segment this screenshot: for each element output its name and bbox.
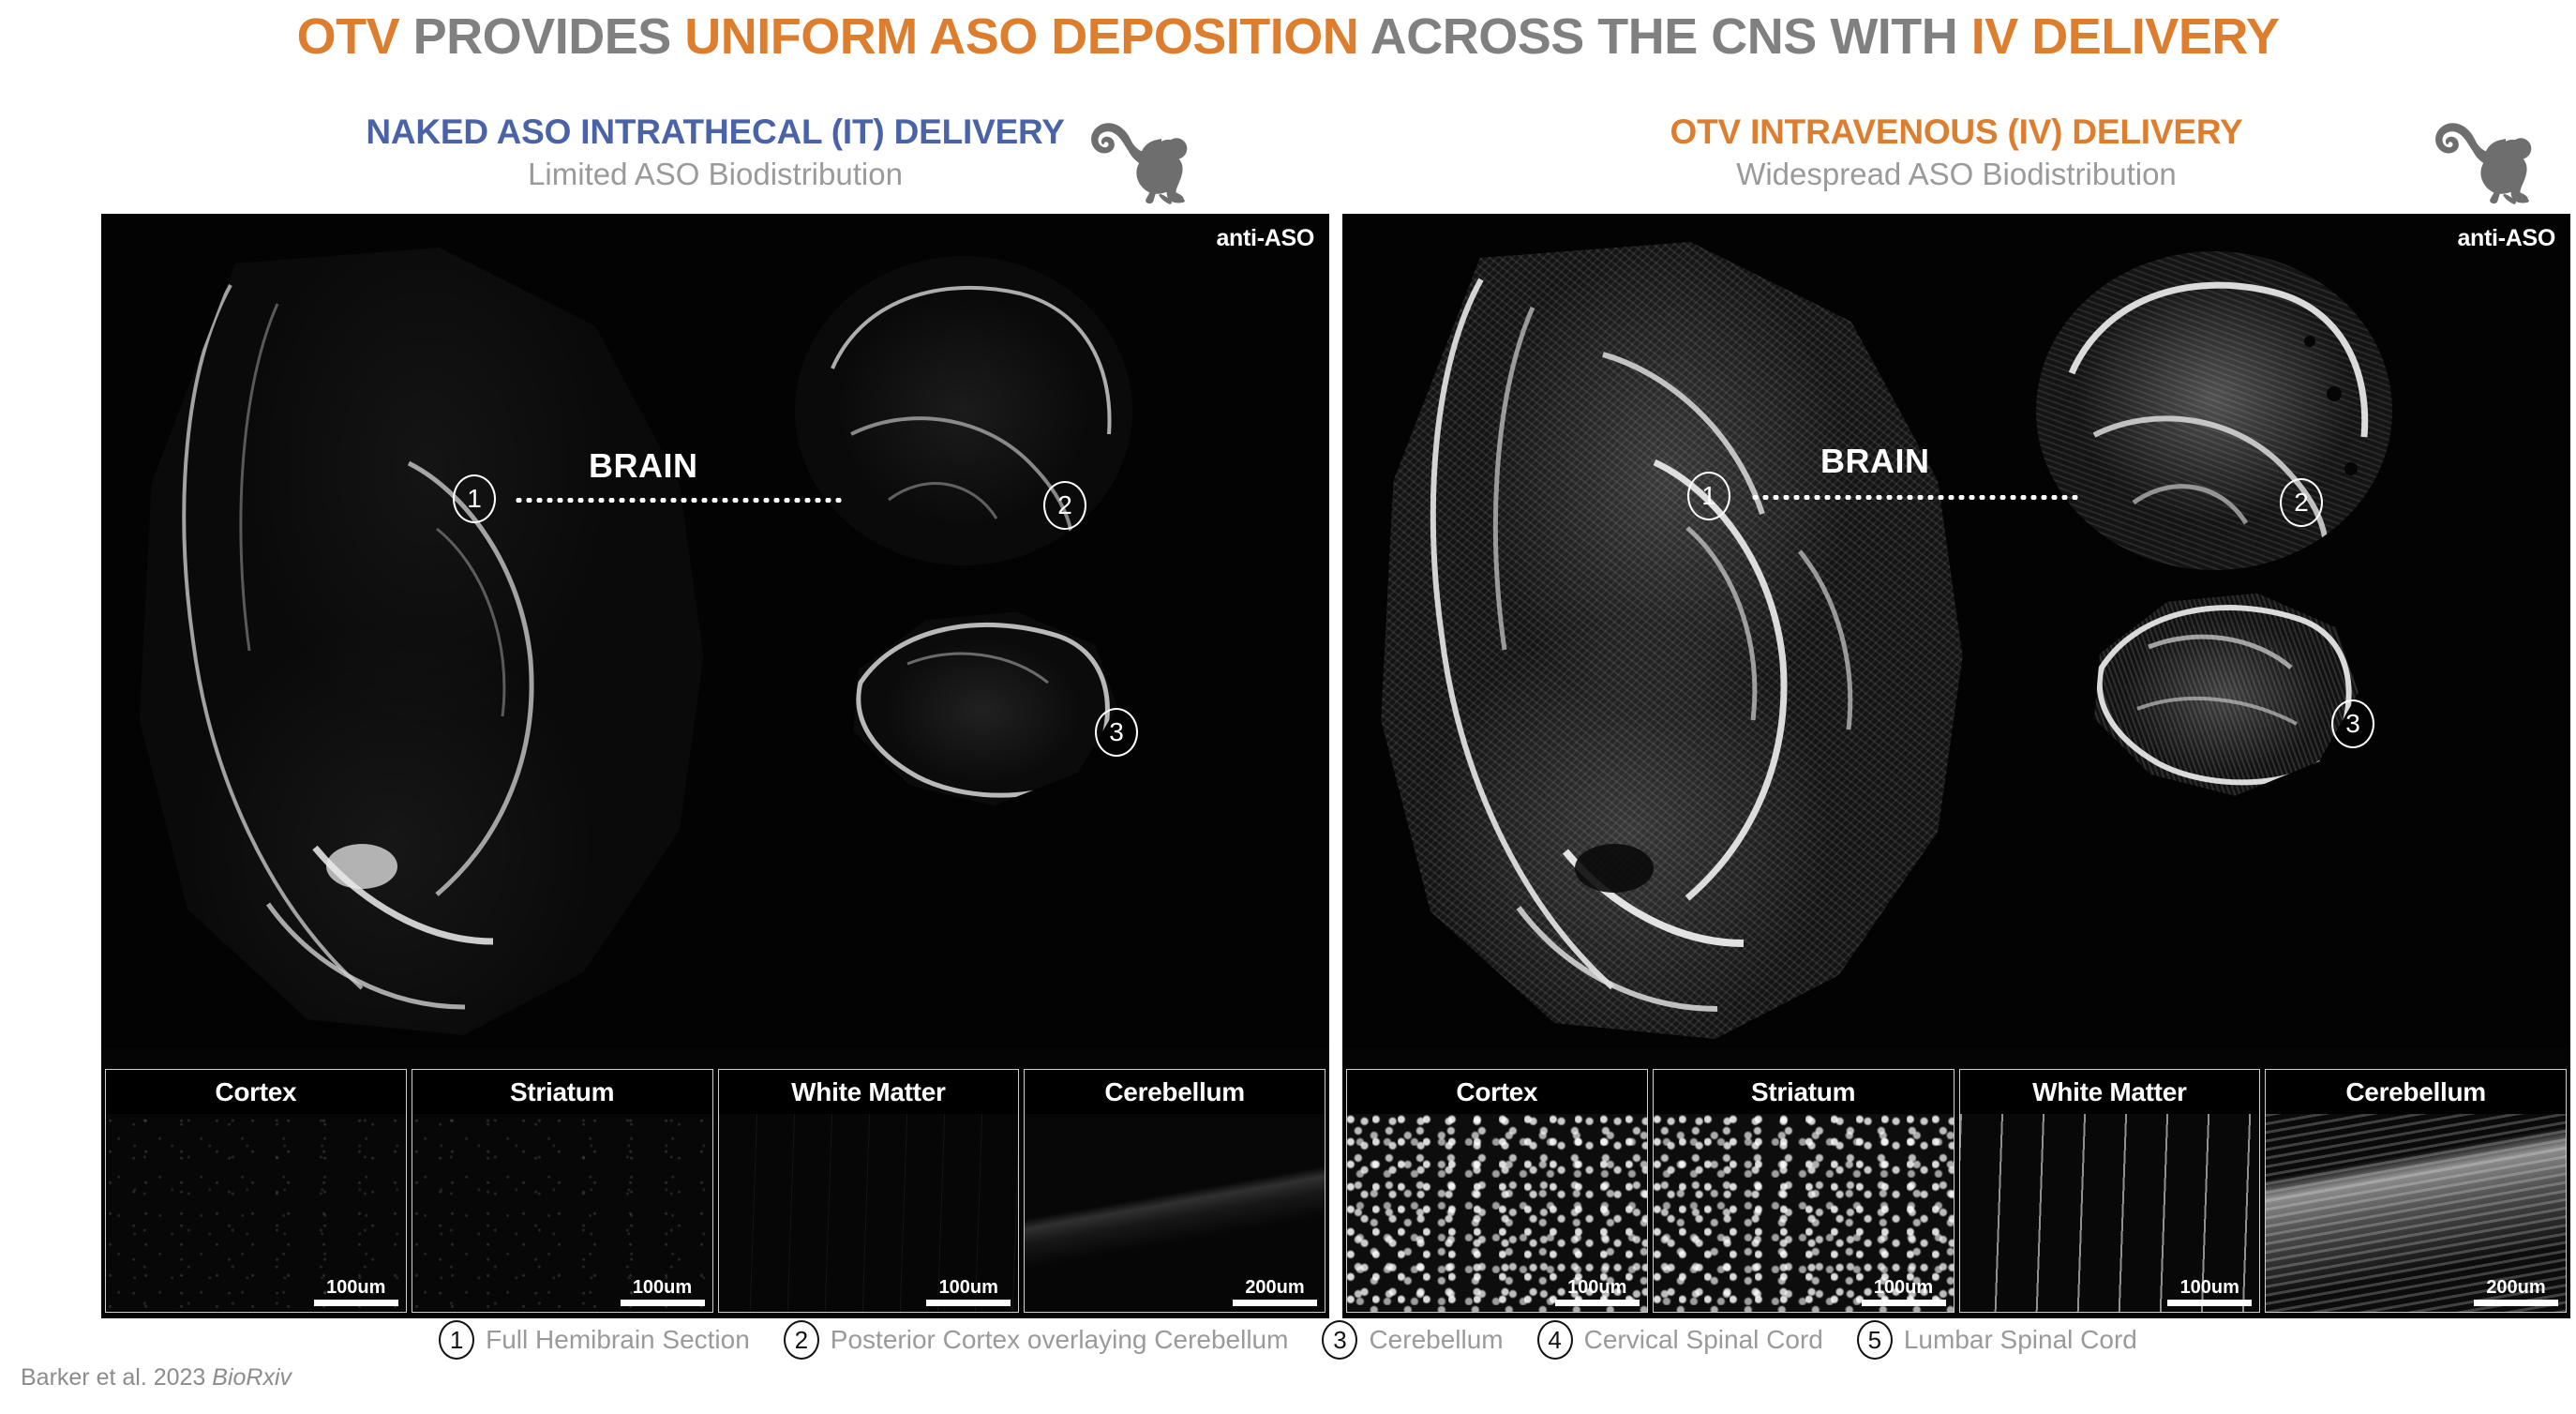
callout-1-left: 1 (453, 474, 496, 523)
legend-label-3: Cerebellum (1369, 1325, 1503, 1355)
monkey-icon (1081, 113, 1203, 204)
citation-source: BioRxiv (212, 1364, 292, 1391)
inset-title-white-matter-left: White Matter (718, 1069, 1020, 1114)
inset-scalebar-label: 200um (2474, 1277, 2558, 1298)
title-segment-1: OTV (297, 8, 413, 65)
brain-leader-line-left (514, 498, 842, 503)
hemibrain-section-right (1369, 242, 1987, 1039)
inset-strip-left: Cortex 100um Striatum 100um (101, 1069, 1329, 1318)
panel-header-left: NAKED ASO INTRATHECAL (IT) DELIVERY Limi… (101, 111, 1329, 214)
legend-item-4: 4 Cervical Spinal Cord (1537, 1320, 1823, 1360)
callout-3-right: 3 (2331, 699, 2374, 748)
legend-number-2: 2 (784, 1320, 819, 1360)
callout-2-left: 2 (1043, 481, 1086, 530)
legend-number-4: 4 (1537, 1320, 1573, 1360)
inset-scalebar-bar (621, 1300, 705, 1306)
panel-naked-aso-it: NAKED ASO INTRATHECAL (IT) DELIVERY Limi… (101, 111, 1329, 1318)
inset-scalebar-label: 100um (2167, 1277, 2252, 1298)
callout-3-left: 3 (1095, 708, 1138, 757)
panel-header-right: OTV INTRAVENOUS (IV) DELIVERY Widespread… (1342, 111, 2570, 214)
inset-scalebar-label: 100um (621, 1277, 705, 1298)
inset-scalebar-bar (1233, 1300, 1317, 1306)
inset-title-striatum-left: Striatum (412, 1069, 713, 1114)
brain-region-label-left: BRAIN (589, 446, 698, 486)
inset-image-striatum-right: 100um (1653, 1114, 1954, 1313)
inset-title-cortex-right: Cortex (1346, 1069, 1648, 1114)
monkey-icon (2425, 113, 2547, 204)
inset-title-striatum-right: Striatum (1653, 1069, 1954, 1114)
slide-root: OTV PROVIDES UNIFORM ASO DEPOSITION ACRO… (0, 0, 2576, 1414)
inset-white-matter-left: White Matter 100um (718, 1069, 1020, 1313)
inset-scalebar-bar (1862, 1300, 1946, 1306)
inset-cortex-right: Cortex 100um (1346, 1069, 1648, 1313)
title-segment-3: UNIFORM ASO DEPOSITION (684, 8, 1370, 65)
title-segment-4: ACROSS THE CNS WITH (1370, 8, 1971, 65)
inset-image-cerebellum-left: 200um (1024, 1114, 1325, 1313)
cerebellum-outline-left (842, 608, 1123, 814)
inset-scalebar-bar (2474, 1300, 2558, 1306)
inset-scalebar-cerebellum-left: 200um (1233, 1277, 1317, 1306)
inset-scalebar-striatum-right: 100um (1862, 1277, 1946, 1306)
posterior-cortex-outline-right (2036, 251, 2392, 570)
inset-scalebar-white-matter-left: 100um (926, 1277, 1011, 1306)
inset-title-cerebellum-left: Cerebellum (1024, 1069, 1325, 1114)
title-segment-2: PROVIDES (413, 8, 685, 65)
panel-otv-iv: OTV INTRAVENOUS (IV) DELIVERY Widespread… (1342, 111, 2570, 1318)
inset-striatum-left: Striatum 100um (412, 1069, 713, 1313)
callout-1-right: 1 (1687, 472, 1730, 520)
inset-title-cerebellum-right: Cerebellum (2265, 1069, 2567, 1114)
legend-number-1: 1 (439, 1320, 474, 1360)
inset-title-white-matter-right: White Matter (1959, 1069, 2261, 1114)
inset-scalebar-label: 200um (1233, 1277, 1317, 1298)
imaging-stage-left: anti-ASO (101, 214, 1329, 1318)
inset-scalebar-white-matter-right: 100um (2167, 1277, 2252, 1306)
posterior-cortex-right (2036, 251, 2392, 570)
cerebellum-right (2083, 589, 2364, 805)
legend-number-3: 3 (1322, 1320, 1357, 1360)
gyri-outline-left (127, 248, 727, 1035)
macro-section-right: anti-ASO (1342, 214, 2570, 1048)
hemibrain-section-left (127, 248, 727, 1035)
inset-scalebar-striatum-left: 100um (621, 1277, 705, 1306)
inset-white-matter-right: White Matter 100um (1959, 1069, 2261, 1313)
inset-image-cortex-left: 100um (105, 1114, 407, 1313)
inset-title-cortex-left: Cortex (105, 1069, 407, 1114)
inset-scalebar-label: 100um (926, 1277, 1011, 1298)
brain-leader-line-right (1750, 495, 2078, 500)
inset-scalebar-label: 100um (314, 1277, 398, 1298)
inset-scalebar-cerebellum-right: 200um (2474, 1277, 2558, 1306)
legend-label-5: Lumbar Spinal Cord (1904, 1325, 2137, 1355)
inset-image-white-matter-right: 100um (1959, 1114, 2261, 1313)
gyri-outline-right (1369, 242, 1987, 1039)
legend-item-2: 2 Posterior Cortex overlaying Cerebellum (784, 1320, 1289, 1360)
inset-cerebellum-left: Cerebellum 200um (1024, 1069, 1325, 1313)
inset-image-striatum-left: 100um (412, 1114, 713, 1313)
stain-label-left: anti-ASO (1216, 225, 1314, 252)
inset-image-cortex-right: 100um (1346, 1114, 1648, 1313)
inset-cerebellum-right: Cerebellum 200um (2265, 1069, 2567, 1313)
inset-image-cerebellum-right: 200um (2265, 1114, 2567, 1313)
callout-2-right: 2 (2280, 478, 2323, 527)
inset-scalebar-label: 100um (1862, 1277, 1946, 1298)
citation: Barker et al. 2023 BioRxiv (21, 1364, 292, 1391)
inset-striatum-right: Striatum 100um (1653, 1069, 1954, 1313)
legend-number-5: 5 (1857, 1320, 1893, 1360)
cerebellum-outline-right (2083, 589, 2364, 805)
inset-scalebar-bar (314, 1300, 398, 1306)
legend-label-4: Cervical Spinal Cord (1584, 1325, 1823, 1355)
brain-region-label-right: BRAIN (1820, 442, 1930, 481)
figure-legend: 1 Full Hemibrain Section 2 Posterior Cor… (0, 1320, 2576, 1360)
title-segment-5: IV DELIVERY (1971, 8, 2280, 65)
inset-scalebar-bar (2167, 1300, 2252, 1306)
inset-strip-right: Cortex 100um Striatum 100um (1342, 1069, 2570, 1318)
imaging-stage-right: anti-ASO (1342, 214, 2570, 1318)
legend-item-1: 1 Full Hemibrain Section (439, 1320, 750, 1360)
inset-image-white-matter-left: 100um (718, 1114, 1020, 1313)
legend-item-3: 3 Cerebellum (1322, 1320, 1503, 1360)
inset-scalebar-cortex-right: 100um (1555, 1277, 1640, 1306)
legend-label-1: Full Hemibrain Section (486, 1325, 750, 1355)
macro-section-left: anti-ASO (101, 214, 1329, 1048)
panel-subheading-right: Widespread ASO Biodistribution (1342, 154, 2570, 195)
panel-heading-right: OTV INTRAVENOUS (IV) DELIVERY (1342, 111, 2570, 154)
inset-scalebar-label: 100um (1555, 1277, 1640, 1298)
stain-label-right: anti-ASO (2457, 225, 2555, 252)
inset-scalebar-bar (1555, 1300, 1640, 1306)
legend-item-5: 5 Lumbar Spinal Cord (1857, 1320, 2137, 1360)
page-title: OTV PROVIDES UNIFORM ASO DEPOSITION ACRO… (0, 8, 2576, 66)
legend-label-2: Posterior Cortex overlaying Cerebellum (831, 1325, 1289, 1355)
citation-authors: Barker et al. 2023 (21, 1364, 212, 1391)
cerebellum-left (842, 608, 1123, 814)
inset-cortex-left: Cortex 100um (105, 1069, 407, 1313)
inset-scalebar-bar (926, 1300, 1011, 1306)
inset-scalebar-cortex-left: 100um (314, 1277, 398, 1306)
